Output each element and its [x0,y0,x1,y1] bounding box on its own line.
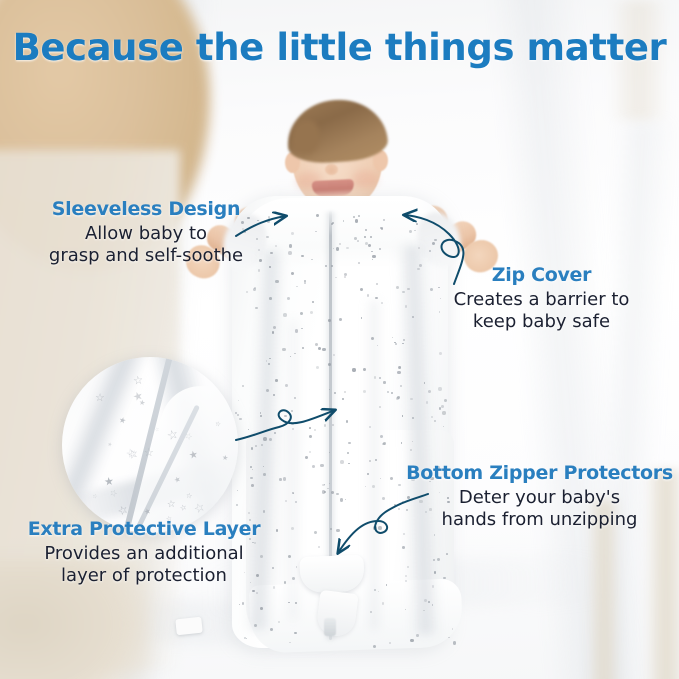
callout-body: Allow baby to grasp and self-soothe [12,223,280,266]
callout-heading: Zip Cover [404,264,679,286]
callout-heading: Bottom Zipper Protectors [400,462,679,484]
callout-zip-cover: Zip Cover Creates a barrier to keep baby… [404,264,679,332]
callout-body: Provides an additional layer of protecti… [8,543,280,586]
callout-sleeveless-design: Sleeveless Design Allow baby to grasp an… [12,198,280,266]
callout-heading: Extra Protective Layer [8,518,280,540]
page-title: Because the little things matter [0,26,679,69]
callout-body: Deter your baby's hands from unzipping [400,487,679,530]
callout-heading: Sleeveless Design [12,198,280,220]
callout-bottom-zipper-protectors: Bottom Zipper Protectors Deter your baby… [400,462,679,530]
callout-extra-protective-layer: Extra Protective Layer Provides an addit… [8,518,280,586]
infographic-canvas: ★☆☆★☆★☆★☆☆☆☆☆★☆★☆☆☆☆★☆☆★☆★ Because the l… [0,0,679,679]
arrow-to-extra-layer [236,410,335,440]
callout-body: Creates a barrier to keep baby safe [404,289,679,332]
